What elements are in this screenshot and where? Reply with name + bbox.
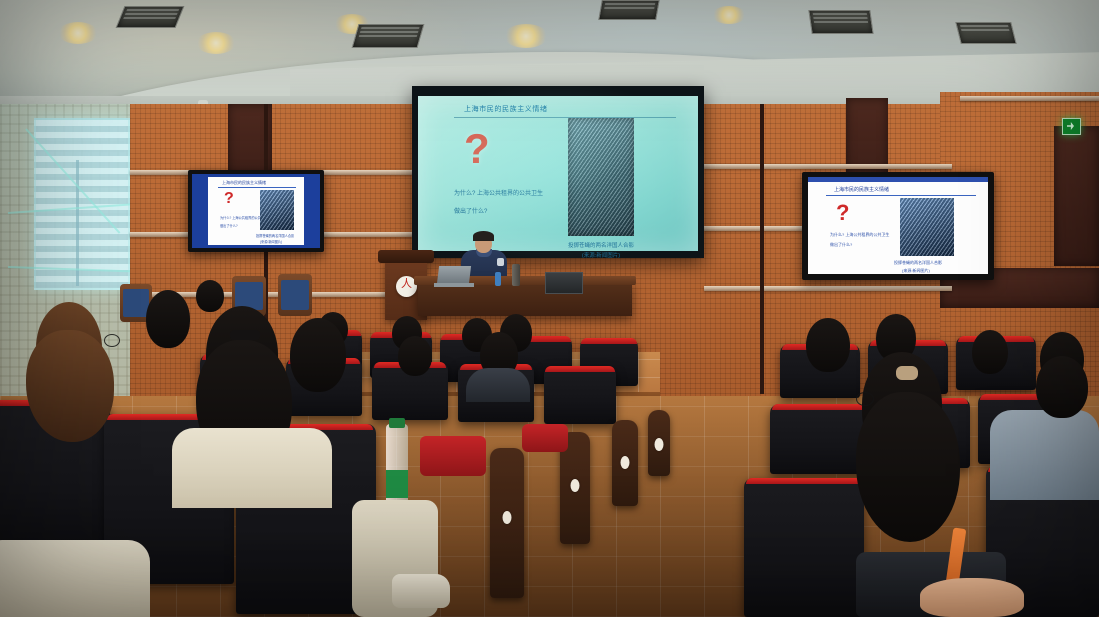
wall-dark-panel — [1054, 126, 1099, 266]
slide-body-line-2: 做出了什么? — [454, 206, 487, 215]
bottle-label — [386, 470, 408, 498]
slide-image — [568, 118, 634, 236]
seat-end-cap — [612, 420, 638, 506]
question-mark-icon: ? — [464, 128, 490, 170]
monitor-body-line-2: 做出了什么? — [220, 223, 238, 228]
ceiling-vent — [598, 0, 660, 20]
seat-end-cap — [490, 448, 524, 598]
presenter-shirt-logo — [497, 258, 504, 266]
ceiling-vent — [352, 24, 425, 48]
wall-trim — [704, 164, 952, 169]
audience-head — [1036, 356, 1088, 418]
monitor-body-line-2: 做出了什么? — [830, 242, 852, 248]
wall-trim — [704, 286, 952, 291]
audience-head — [290, 318, 346, 392]
slide-caption-line-1: 投掷苍蝇的两名洋国人合影 — [542, 241, 660, 249]
ceiling-light — [196, 32, 236, 54]
monitor-question-icon: ? — [224, 191, 234, 207]
audience-shoulders — [466, 368, 530, 402]
audience-shoulders — [0, 540, 150, 617]
hair-tie — [896, 366, 918, 380]
presenter-hair — [473, 231, 494, 241]
thermos — [512, 264, 520, 286]
audience-shoulders — [172, 428, 332, 508]
audience-hair — [856, 392, 960, 542]
front-chair — [278, 274, 312, 316]
hand — [920, 578, 1024, 617]
presenter-table — [418, 282, 632, 316]
loudspeaker — [545, 272, 583, 294]
slide-title: 上海市民的民族主义情绪 — [464, 104, 548, 114]
glasses-icon — [856, 392, 874, 406]
laptop-base — [434, 283, 474, 287]
audience-head — [972, 330, 1008, 374]
auditorium-seat — [544, 366, 616, 424]
ceiling-light — [712, 6, 746, 24]
laptop-icon — [437, 266, 471, 284]
auditorium-seat — [770, 404, 866, 474]
ceiling-vent — [808, 10, 873, 34]
hair-clip — [230, 330, 260, 340]
monitor-slide-image — [260, 190, 294, 230]
seat-end-cap — [648, 410, 670, 476]
right-wall-monitor: 上海市民的民族主义情绪 ? 为什么? 上海公共租界的公共卫生 做出了什么? 投掷… — [802, 172, 994, 280]
lecture-hall-photo: 上海市民的民族主义情绪 ? 为什么? 上海公共租界的公共卫生 做出了什么? 投掷… — [0, 0, 1099, 617]
seat-cushion — [522, 424, 568, 452]
audience-head — [398, 336, 432, 376]
audience-head — [806, 318, 850, 372]
slide-caption-line-2: (来源:新闻图片) — [542, 251, 660, 259]
projection-screen: 上海市民的民族主义情绪 ? 为什么? 上海公共租界的公共卫生 做出了什么? 投掷… — [418, 96, 698, 251]
auditorium-seat — [744, 478, 864, 617]
monitor-caption-line-1: 投掷苍蝇的两名洋国人合影 — [256, 233, 294, 238]
wall-trim — [960, 96, 1099, 101]
ceiling-light — [504, 24, 548, 48]
monitor-caption-line-1: 投掷苍蝇的两名洋国人合影 — [894, 260, 942, 266]
slide-body-line-1: 为什么? 上海公共租界的公共卫生 — [454, 188, 543, 197]
monitor-slide-image — [900, 198, 954, 256]
bottle-cap — [389, 418, 405, 428]
monitor-caption-line-2: (来源:新闻图片) — [902, 268, 930, 274]
monitor-slide-title: 上海市民的民族主义情绪 — [834, 186, 889, 193]
audience-hair — [26, 330, 114, 442]
audience-head — [146, 290, 190, 348]
glasses-icon — [104, 334, 120, 347]
wall-seam — [760, 104, 764, 394]
ceiling-vent — [116, 6, 185, 28]
left-wall-monitor: 上海市民的民族主义情绪 ? 为什么? 上海公共租界的公共卫生 做出了什么? 投掷… — [188, 170, 324, 252]
shoe — [392, 574, 450, 608]
monitor-slide-title: 上海市民的民族主义情绪 — [222, 180, 266, 186]
monitor-body-line-1: 为什么? 上海公共租界的公共卫生 — [830, 232, 889, 238]
slide-title-rule — [454, 117, 676, 118]
ceiling-vent — [955, 22, 1016, 44]
blue-bottle — [495, 272, 501, 286]
monitor-caption-line-2: (来源:新闻图片) — [260, 239, 282, 244]
ceiling-light — [58, 22, 98, 44]
exit-sign-icon — [1062, 118, 1081, 135]
audience-shoulders — [990, 410, 1099, 500]
window-sash — [76, 160, 79, 286]
podium-top — [378, 250, 434, 263]
seat-cushion — [420, 436, 486, 476]
audience-head — [196, 280, 224, 312]
monitor-question-icon: ? — [836, 202, 849, 224]
